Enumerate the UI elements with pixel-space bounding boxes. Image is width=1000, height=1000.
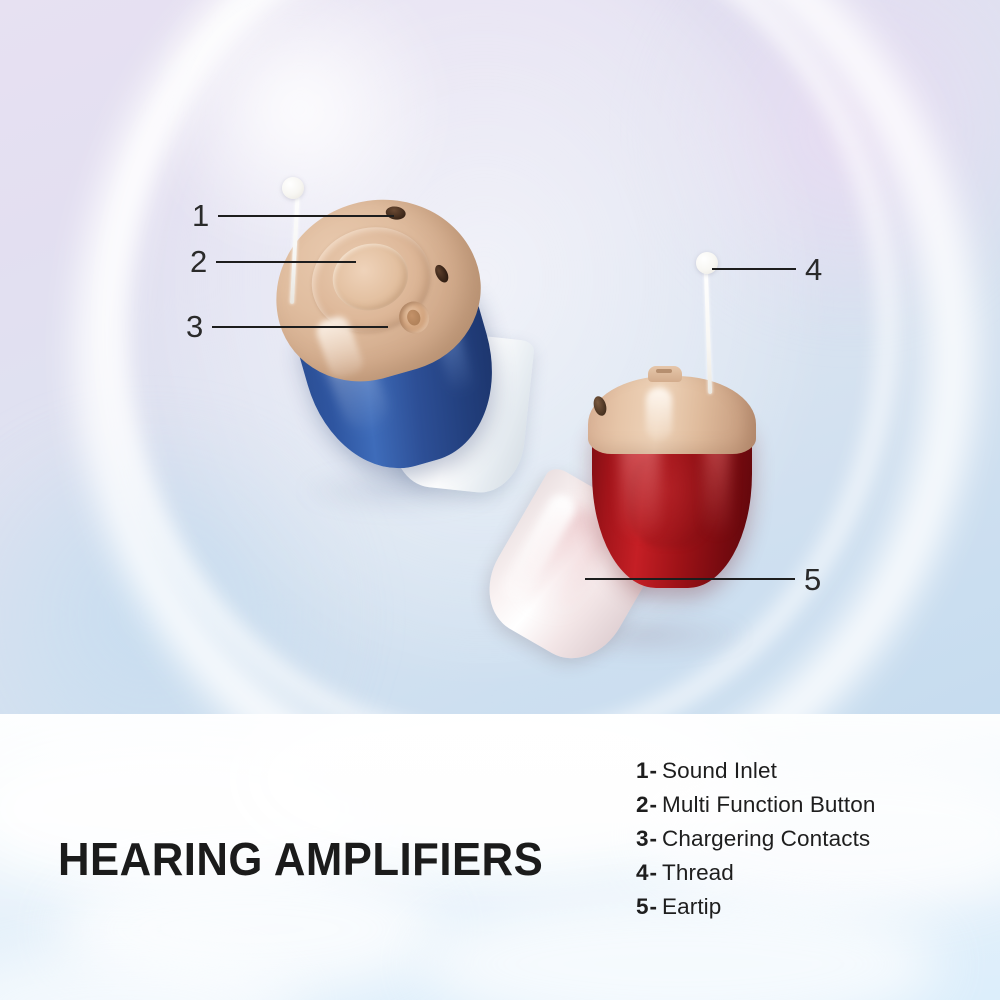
legend-label-1: Sound Inlet (662, 756, 777, 785)
callout-number-3: 3 (186, 311, 203, 342)
callout-number-2: 2 (190, 246, 207, 277)
blue-microphone-port (432, 263, 451, 285)
legend-number-5: 5 (636, 892, 649, 921)
red-faceplate-highlight (646, 388, 672, 440)
callout-line-3 (212, 326, 388, 328)
red-top-nub-slot (656, 369, 672, 373)
legend-label-4: Thread (662, 858, 734, 887)
legend-list: 1 - Sound Inlet 2 - Multi Function Butto… (636, 756, 976, 926)
blue-sound-inlet-port (385, 205, 407, 221)
legend-number-3: 3 (636, 824, 649, 853)
legend-label-3: Chargering Contacts (662, 824, 870, 853)
page-title: HEARING AMPLIFIERS (58, 832, 543, 886)
callout-line-1 (218, 215, 394, 217)
legend-item-5: 5 - Eartip (636, 892, 976, 921)
legend-dash-3: - (650, 824, 658, 853)
callout-number-1: 1 (192, 200, 209, 231)
legend-item-3: 3 - Chargering Contacts (636, 824, 976, 853)
infographic-canvas: 1 2 3 4 5 HEARING AMPLIFIERS 1 - Sound I… (0, 0, 1000, 1000)
legend-dash-5: - (650, 892, 658, 921)
callout-line-5 (585, 578, 795, 580)
legend-label-2: Multi Function Button (662, 790, 875, 819)
callout-line-2 (216, 261, 356, 263)
callout-number-4: 4 (805, 254, 822, 285)
callout-number-5: 5 (804, 564, 821, 595)
legend-item-1: 1 - Sound Inlet (636, 756, 976, 785)
red-hearing-amplifier (500, 356, 800, 666)
legend-number-2: 2 (636, 790, 649, 819)
legend-number-4: 4 (636, 858, 649, 887)
legend-item-4: 4 - Thread (636, 858, 976, 887)
blue-thread-knob (282, 177, 304, 199)
legend-dash-1: - (650, 756, 658, 785)
red-faceplate (588, 376, 756, 454)
callout-line-4 (712, 268, 796, 270)
red-thread-knob (696, 252, 718, 274)
legend-dash-4: - (650, 858, 658, 887)
legend-item-2: 2 - Multi Function Button (636, 790, 976, 819)
legend-dash-2: - (650, 790, 658, 819)
legend-number-1: 1 (636, 756, 649, 785)
legend-label-5: Eartip (662, 892, 721, 921)
